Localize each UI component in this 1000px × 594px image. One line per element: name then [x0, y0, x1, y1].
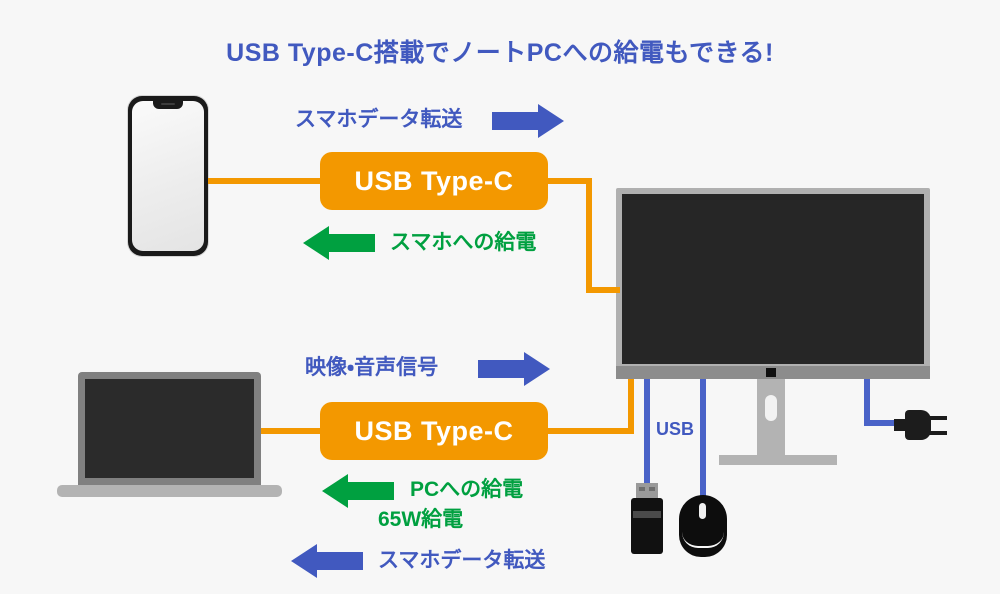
cable-mouse [700, 379, 706, 503]
cable-top-vertical-drop [586, 178, 592, 293]
diagram-canvas: USB Type-C搭載でノートPCへの給電もできる! USB [0, 0, 1000, 594]
flow-av-signal-label: 映像・音声信号 [305, 356, 438, 380]
flow-pc-power-watt-label: 65W給電 [378, 508, 463, 532]
cable-top-into-monitor [586, 287, 620, 293]
usb-flash-drive [631, 498, 663, 554]
arrow-left-green-pc-power [322, 474, 394, 508]
page-title: USB Type-C搭載でノートPCへの給電もできる! [0, 33, 1000, 69]
arrow-left-green-phone-power [303, 226, 375, 260]
cable-chip-bottom-out [548, 428, 634, 434]
smartphone-device [128, 96, 208, 256]
smartphone-screen [132, 101, 204, 251]
laptop-device [78, 372, 261, 485]
usbc-chip-top[interactable]: USB Type-C [320, 152, 548, 210]
cable-bottom-vertical-rise [628, 379, 634, 434]
cable-phone-to-chip [208, 178, 320, 184]
arrow-left-blue-pc-data [291, 544, 363, 578]
monitor-device [616, 188, 930, 378]
usb-port-label: USB [656, 419, 694, 440]
monitor-stand-base [719, 455, 837, 465]
usbc-chip-bottom[interactable]: USB Type-C [320, 402, 548, 460]
monitor-screen [622, 194, 924, 364]
arrow-right-blue-av-signal [478, 352, 550, 386]
flow-phone-data-label: スマホデータ転送 [295, 108, 462, 132]
laptop-screen [85, 379, 254, 478]
mouse-scroll-wheel [699, 503, 706, 519]
arrow-right-blue-phone-data [492, 104, 564, 138]
power-plug-icon [905, 410, 931, 440]
smartphone-speaker-icon [161, 103, 175, 105]
monitor-stand-cable-hole [765, 395, 777, 421]
cable-usb-drive [644, 379, 650, 485]
laptop-base [57, 485, 282, 497]
usb-flash-drive-stripe [633, 511, 661, 518]
cable-laptop-to-chip [261, 428, 322, 434]
cable-power-vertical [864, 379, 870, 426]
monitor-power-button[interactable] [766, 368, 776, 377]
flow-phone-power-label: スマホへの給電 [390, 231, 536, 255]
flow-pc-power-label: PCへの給電 [410, 478, 523, 502]
power-plug-prong-upper [929, 416, 947, 420]
power-plug-prong-lower [929, 431, 947, 435]
flow-pc-data-label: スマホデータ転送 [378, 549, 545, 573]
